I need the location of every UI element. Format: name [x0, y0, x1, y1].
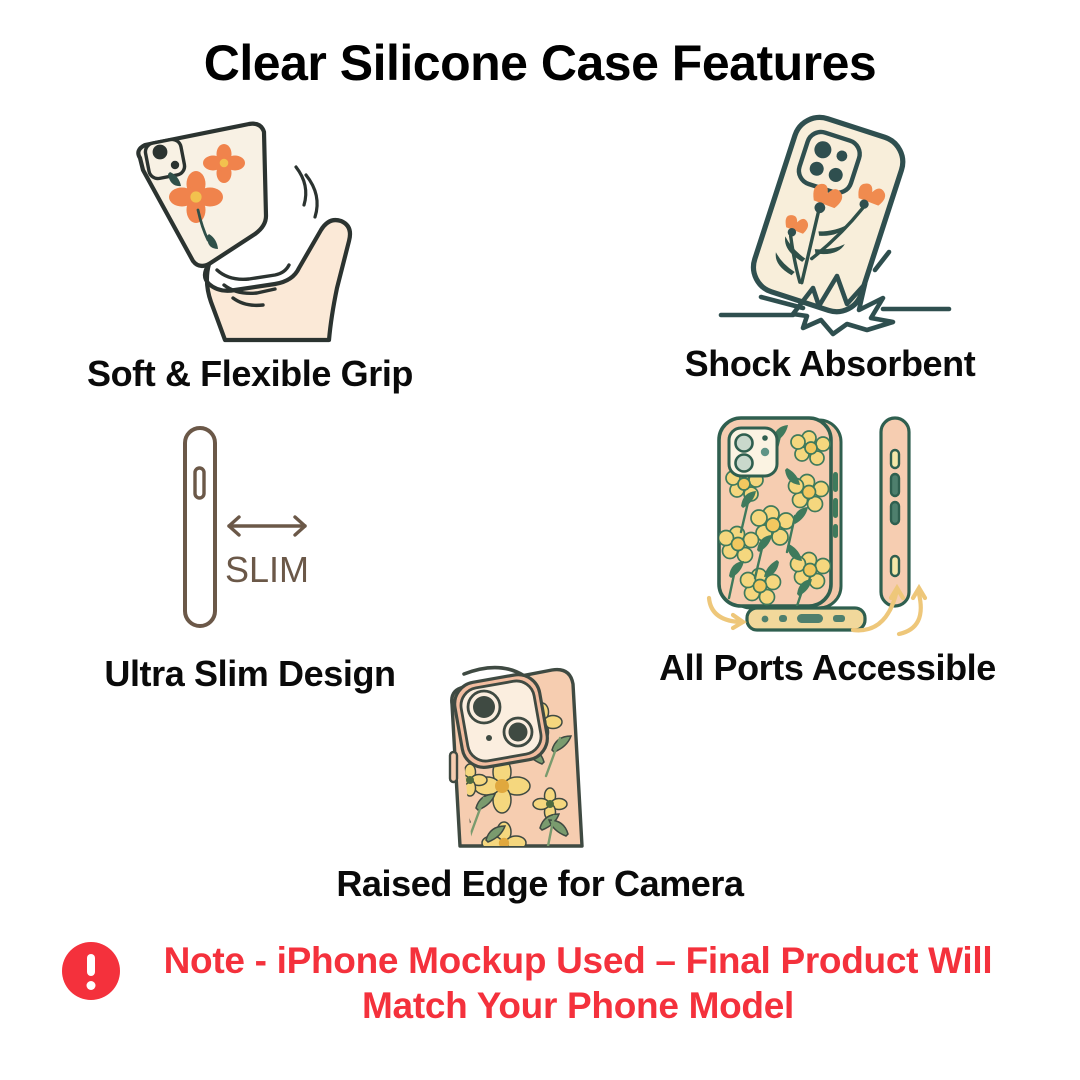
case-side-profile [881, 418, 909, 606]
case-raised-camera-edge-icon [430, 660, 650, 846]
exclamation-dot [87, 981, 96, 990]
phone-case-flexing [138, 124, 266, 266]
width-arrow-icon [229, 517, 305, 535]
raised-camera-bump [451, 671, 551, 771]
case-drop-impact-icon [707, 112, 953, 334]
feature-slim-illustration: SLIM [30, 418, 470, 636]
case-ports-cutouts-icon [703, 412, 953, 634]
phone-side-profile-slim-icon: SLIM [155, 418, 345, 636]
infographic-page: Clear Silicone Case Features [0, 0, 1080, 1080]
slim-arrow-label: SLIM [225, 549, 309, 590]
side-button-icon [450, 752, 457, 782]
flower-icon [740, 569, 780, 605]
exclamation-bar [87, 954, 95, 976]
feature-slim: SLIM Ultra Slim Design [30, 418, 470, 694]
feature-grip-illustration [30, 118, 470, 340]
feature-camera-label: Raised Edge for Camera [285, 864, 795, 904]
power-button-cutout [891, 556, 899, 576]
hand-holding-flexing-case-icon [125, 118, 375, 340]
feature-ports: All Ports Accessible [605, 412, 1050, 688]
feature-grip-label: Soft & Flexible Grip [30, 354, 470, 394]
flower-icon [718, 527, 758, 563]
flex-motion-lines-icon [296, 167, 317, 217]
feature-shock-illustration [610, 112, 1050, 334]
feature-shock: Shock Absorbent [610, 112, 1050, 384]
feature-camera-illustration [285, 660, 795, 846]
feature-grip: Soft & Flexible Grip [30, 118, 470, 394]
volume-down-cutout [891, 502, 899, 524]
feature-camera: Raised Edge for Camera [285, 660, 795, 904]
case-bottom-edge [747, 608, 865, 630]
side-button-icon [195, 468, 204, 498]
volume-up-cutout [891, 474, 899, 496]
charging-port-cutout [797, 614, 823, 623]
side-port-cutouts [833, 472, 838, 538]
mute-switch-cutout [891, 450, 899, 468]
note-banner: Note - iPhone Mockup Used – Final Produc… [0, 938, 1080, 1028]
note-text: Note - iPhone Mockup Used – Final Produc… [138, 938, 1018, 1028]
feature-ports-illustration [605, 412, 1050, 634]
page-title: Clear Silicone Case Features [0, 34, 1080, 92]
exclamation-circle-icon [62, 942, 120, 1000]
feature-shock-label: Shock Absorbent [610, 344, 1050, 384]
